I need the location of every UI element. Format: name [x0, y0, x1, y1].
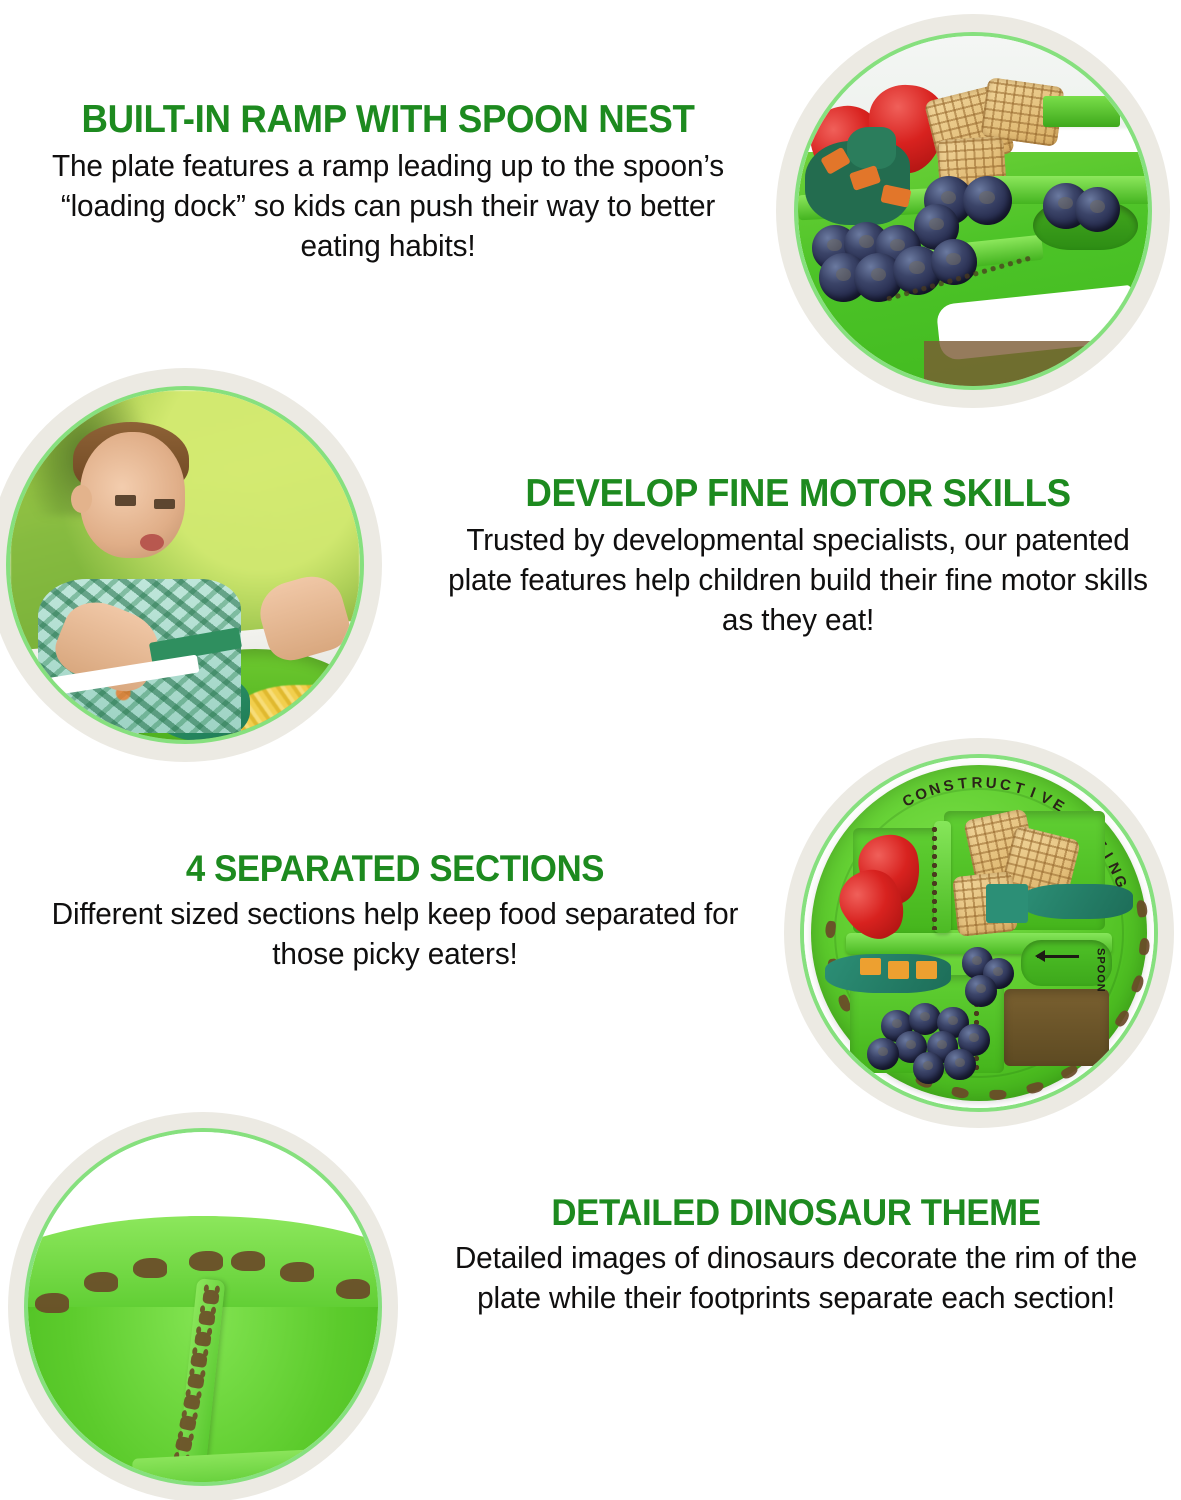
feature-heading-dinosaur-theme: DETAILED DINOSAUR THEME [443, 1194, 1150, 1232]
feature-body-separated-sections: Different sized sections help keep food … [48, 894, 741, 975]
feature-image-built-in-ramp [776, 14, 1170, 408]
scene-child-eating [10, 390, 360, 740]
feature-image-dinosaur-theme [8, 1112, 398, 1500]
photo-frame-inner [28, 1132, 378, 1482]
feature-text-fine-motor-skills: DEVELOP FINE MOTOR SKILLS Trusted by dev… [424, 474, 1172, 641]
photo-frame-inner [798, 36, 1148, 386]
feature-body-fine-motor-skills: Trusted by developmental specialists, ou… [439, 520, 1157, 641]
photo-frame-inner: CONSTRUCTIVEEATING SPOON [804, 758, 1154, 1108]
feature-heading-fine-motor-skills: DEVELOP FINE MOTOR SKILLS [446, 474, 1149, 514]
feature-text-dinosaur-theme: DETAILED DINOSAUR THEME Detailed images … [420, 1194, 1172, 1318]
spoon-arrow-icon [1037, 955, 1079, 958]
feature-body-dinosaur-theme: Detailed images of dinosaurs decorate th… [435, 1238, 1157, 1319]
spoon-label: SPOON [1095, 948, 1107, 993]
spoon-slot: SPOON [1021, 940, 1112, 986]
feature-heading-separated-sections: 4 SEPARATED SECTIONS [56, 850, 735, 888]
scene-ramp-closeup [798, 36, 1148, 386]
feature-heading-built-in-ramp: BUILT-IN RAMP WITH SPOON NEST [31, 100, 745, 140]
feature-image-separated-sections: CONSTRUCTIVEEATING SPOON [784, 738, 1174, 1128]
scene-full-plate: CONSTRUCTIVEEATING SPOON [804, 758, 1154, 1108]
feature-text-built-in-ramp: BUILT-IN RAMP WITH SPOON NEST The plate … [8, 100, 768, 267]
feature-image-fine-motor-skills [0, 368, 382, 762]
photo-frame-inner [10, 390, 360, 740]
feature-body-built-in-ramp: The plate features a ramp leading up to … [23, 146, 753, 267]
scene-rim-closeup [28, 1132, 378, 1482]
feature-text-separated-sections: 4 SEPARATED SECTIONS Different sized sec… [34, 850, 756, 974]
infographic-page: BUILT-IN RAMP WITH SPOON NEST The plate … [0, 0, 1181, 1500]
